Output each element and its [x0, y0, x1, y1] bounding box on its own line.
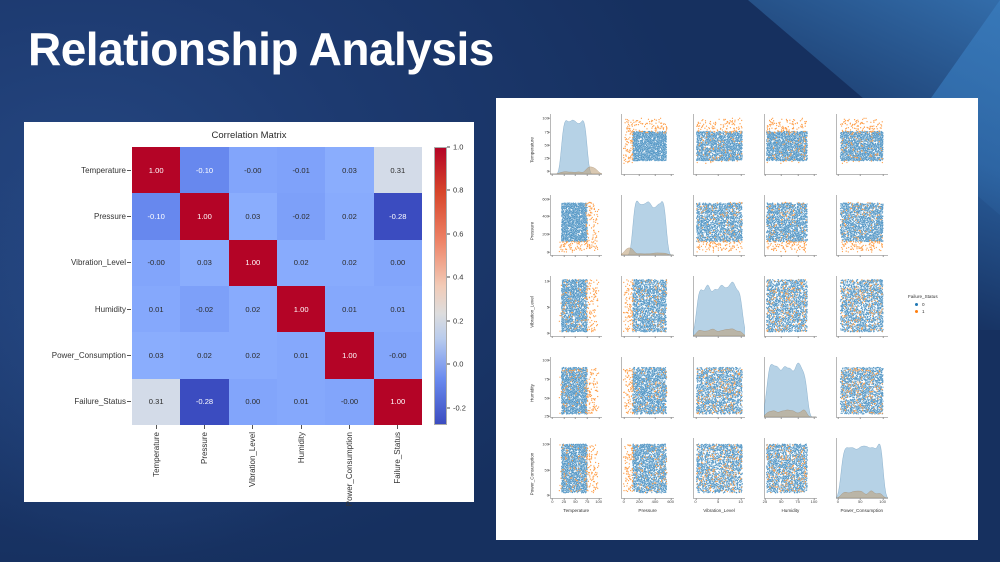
x-tick-mark: [623, 255, 624, 257]
x-tick-label: 75: [795, 499, 799, 504]
x-tick-mark: [623, 174, 624, 176]
pairplot-plot-area: [693, 114, 745, 174]
pairplot-axes: [836, 357, 888, 417]
colorbar-tick: 0.8: [447, 186, 463, 195]
pairplot-y-axis-label: Temperature: [530, 120, 535, 180]
heatmap-col-ticks: [132, 425, 422, 429]
heatmap-col-labels: TemperaturePressureVibration_LevelHumidi…: [132, 432, 422, 530]
x-tick-label: 50: [573, 499, 577, 504]
x-tick-label: 100: [595, 499, 602, 504]
x-tick-mark: [575, 174, 576, 176]
y-tick-label: 50: [545, 142, 549, 147]
heatmap-cell: -0.10: [180, 147, 228, 193]
pairplot-diagonal-cell: 050100Power_Consumption: [824, 436, 890, 512]
correlation-matrix-title: Correlation Matrix: [24, 130, 474, 141]
colorbar-tick-label: 0.6: [453, 229, 463, 238]
scatter-series-class-0: [561, 367, 588, 415]
y-tick-label: 10: [545, 279, 549, 284]
heatmap-cell: 0.03: [325, 147, 373, 193]
x-tick-mark: [765, 255, 766, 257]
y-tick-label: 0: [547, 169, 549, 174]
x-tick-mark: [575, 255, 576, 257]
x-tick-mark: [598, 174, 599, 176]
pairplot-scatter-cell: [609, 274, 675, 350]
x-tick-mark: [882, 417, 883, 419]
scatter-series-class-0: [839, 279, 883, 333]
x-tick-mark: [765, 174, 766, 176]
pairplot-plot-area: [764, 195, 816, 255]
pairplot-axes: [621, 114, 673, 174]
heatmap-row-tick-mark: [127, 401, 131, 402]
x-tick-mark: [655, 174, 656, 176]
pairplot-axes: [836, 195, 888, 255]
heatmap-col-label: Failure_Status: [393, 432, 402, 484]
pairplot-plot-area: [621, 114, 673, 174]
heatmap-cell: 0.01: [325, 286, 373, 332]
heatmap-col-tick-mark: [156, 425, 157, 429]
colorbar-tick: -0.2: [447, 403, 466, 412]
colorbar-tick: 0.2: [447, 316, 463, 325]
pairplot-axes: [764, 114, 816, 174]
x-tick-mark: [655, 417, 656, 419]
heatmap-cell: 0.03: [132, 332, 180, 378]
x-tick-mark: [838, 174, 839, 176]
x-tick-mark: [797, 336, 798, 338]
heatmap-row-tick-mark: [127, 170, 131, 171]
x-tick-mark: [695, 417, 696, 419]
pairplot-plot-area: [621, 276, 673, 336]
pairplot-plot-area: [550, 276, 602, 336]
scatter-series-class-0: [696, 131, 743, 162]
x-tick-mark: [860, 255, 861, 257]
heatmap-cell: 0.00: [374, 240, 422, 286]
scatter-series-class-0: [561, 279, 588, 333]
legend-entry-label: 1: [922, 309, 925, 314]
x-tick-mark: [655, 336, 656, 338]
x-tick-mark: [552, 417, 553, 419]
x-tick-mark: [670, 255, 671, 257]
x-tick-mark: [860, 336, 861, 338]
heatmap-row-label: Temperature: [81, 166, 126, 175]
pairplot-scatter-cell: [752, 193, 818, 269]
x-tick-mark: [718, 336, 719, 338]
pairplot-scatter-cell: [824, 274, 890, 350]
x-tick-mark: [564, 417, 565, 419]
heatmap-cell: 0.00: [229, 379, 277, 425]
pairplot-plot-area: [550, 114, 602, 174]
pairplot-scatter-cell: 0510Vibration_Level: [681, 436, 747, 512]
scatter-series-class-0: [561, 202, 588, 242]
pairplot-diagonal-cell: [752, 355, 818, 431]
heatmap-row-tick-mark: [127, 355, 131, 356]
x-tick-mark: [587, 174, 588, 176]
pairplot-plot-area: [836, 357, 888, 417]
x-tick-mark: [797, 417, 798, 419]
heatmap-cell: 0.02: [325, 193, 373, 239]
colorbar-tick: 1.0: [447, 143, 463, 152]
x-tick-mark: [882, 255, 883, 257]
pairplot-axes: 050100: [836, 438, 888, 498]
pairplot-plot-area: [836, 195, 888, 255]
x-tick-mark: [655, 255, 656, 257]
pairplot-axes: [836, 276, 888, 336]
pairplot-scatter-cell: [752, 274, 818, 350]
x-tick-mark: [882, 174, 883, 176]
pairplot-card: 0255075100Temperature0200400600Pressure0…: [496, 98, 978, 540]
x-tick-mark: [814, 336, 815, 338]
heatmap-cell: -0.28: [374, 193, 422, 239]
heatmap-cell: 0.03: [180, 240, 228, 286]
x-tick-mark: [781, 174, 782, 176]
heatmap-cell: 0.01: [374, 286, 422, 332]
y-tick-label: 0: [547, 493, 549, 498]
pairplot-plot-area: [764, 357, 816, 417]
scatter-series-class-0: [696, 202, 743, 242]
page-title: Relationship Analysis: [28, 22, 494, 76]
heatmap-cell: 0.31: [374, 147, 422, 193]
y-tick-label: 100: [542, 358, 549, 363]
scatter-series-class-0: [633, 131, 668, 162]
heatmap-cell: 0.03: [229, 193, 277, 239]
pairplot-axes: 0510: [550, 276, 602, 336]
x-tick-mark: [587, 417, 588, 419]
kde-density-curve: [836, 444, 888, 498]
pairplot-plot-area: [693, 438, 745, 498]
x-tick-mark: [639, 336, 640, 338]
heatmap-cell: -0.00: [132, 240, 180, 286]
x-tick-mark: [860, 417, 861, 419]
x-tick-mark: [765, 417, 766, 419]
pairplot-x-axis-label: Pressure: [621, 508, 673, 513]
pairplot-grid: 0255075100Temperature0200400600Pressure0…: [538, 112, 890, 512]
pairplot-y-axis-label: Pressure: [530, 201, 535, 261]
x-tick-label: 75: [585, 499, 589, 504]
x-tick-mark: [781, 417, 782, 419]
x-tick-mark: [740, 336, 741, 338]
legend-entries: 01: [908, 302, 974, 314]
x-tick-mark: [882, 336, 883, 338]
x-tick-label: 10: [738, 499, 742, 504]
x-tick-mark: [695, 174, 696, 176]
heatmap-cell: 0.31: [132, 379, 180, 425]
y-tick-label: 5: [547, 305, 549, 310]
pairplot-plot-area: [621, 357, 673, 417]
y-tick-label: 0: [547, 250, 549, 255]
x-tick-label: 0: [837, 499, 839, 504]
pairplot-x-axis-label: Temperature: [550, 508, 602, 513]
scatter-series-class-0: [696, 443, 743, 493]
pairplot-axes: [693, 114, 745, 174]
heatmap-cell: 1.00: [132, 147, 180, 193]
x-tick-mark: [814, 417, 815, 419]
heatmap-cell: 1.00: [325, 332, 373, 378]
x-tick-mark: [639, 417, 640, 419]
heatmap-cell: -0.02: [180, 286, 228, 332]
heatmap-col-tick-mark: [397, 425, 398, 429]
x-tick-label: 5: [717, 499, 719, 504]
pairplot-plot-area: [693, 195, 745, 255]
scatter-series-class-0: [766, 131, 808, 162]
x-tick-label: 200: [636, 499, 643, 504]
kde-density-curve: [764, 363, 816, 417]
x-tick-mark: [552, 255, 553, 257]
legend-entry[interactable]: 1: [915, 309, 974, 314]
x-tick-mark: [797, 174, 798, 176]
heatmap-col-label: Vibration_Level: [248, 432, 257, 487]
y-tick-label: 400: [542, 214, 549, 219]
colorbar-tick: 0.6: [447, 229, 463, 238]
x-tick-mark: [598, 255, 599, 257]
pairplot-scatter-cell: [681, 112, 747, 188]
pairplot-axes: 255075100: [764, 438, 816, 498]
pairplot-x-axis-label: Power_Consumption: [836, 508, 888, 513]
x-tick-mark: [552, 336, 553, 338]
heatmap-col-tick-mark: [204, 425, 205, 429]
x-tick-mark: [623, 417, 624, 419]
heatmap-colorbar: 1.00.80.60.40.20.0-0.2: [434, 147, 447, 425]
colorbar-tick: 0.0: [447, 360, 463, 369]
colorbar-tick-label: 0.0: [453, 360, 463, 369]
heatmap-cell: 0.01: [132, 286, 180, 332]
x-tick-mark: [740, 417, 741, 419]
heatmap-cell: 0.02: [180, 332, 228, 378]
pairplot-axes: [621, 195, 673, 255]
scatter-series-class-0: [766, 279, 808, 333]
pairplot-y-axis-label: Humidity: [530, 363, 535, 423]
pairplot-plot-area: [693, 276, 745, 336]
heatmap-cell: 1.00: [229, 240, 277, 286]
y-tick-label: 200: [542, 232, 549, 237]
x-tick-mark: [598, 336, 599, 338]
heatmap-cell: -0.10: [132, 193, 180, 239]
colorbar-tick-label: 0.8: [453, 186, 463, 195]
pairplot-axes: 0200400600: [550, 195, 602, 255]
pairplot-axes: [621, 276, 673, 336]
x-tick-mark: [598, 417, 599, 419]
colorbar-tick: 0.4: [447, 273, 463, 282]
pairplot-scatter-cell: 255075100Humidity: [752, 436, 818, 512]
heatmap-cell: 0.02: [325, 240, 373, 286]
colorbar-tick-label: 0.4: [453, 273, 463, 282]
y-tick-label: 100: [542, 442, 549, 447]
pairplot-plot-area: [550, 438, 602, 498]
pairplot-axes: [764, 357, 816, 417]
legend-entry[interactable]: 0: [915, 302, 974, 307]
pairplot-plot-area: [693, 357, 745, 417]
heatmap-row-label: Humidity: [95, 305, 126, 314]
pairplot-scatter-cell: [752, 112, 818, 188]
colorbar-tick-label: 0.2: [453, 316, 463, 325]
heatmap-col-label: Humidity: [297, 432, 306, 463]
correlation-matrix-card: Correlation Matrix TemperaturePressureVi…: [24, 122, 474, 502]
heatmap-col-label: Temperature: [152, 432, 161, 477]
pairplot-plot-area: [621, 195, 673, 255]
x-tick-mark: [695, 255, 696, 257]
pairplot-plot-area: [836, 114, 888, 174]
pairplot-y-axis-label: Vibration_Level: [530, 282, 535, 342]
pairplot-axes: 0200400600: [621, 438, 673, 498]
heatmap-cell: -0.28: [180, 379, 228, 425]
scatter-series-class-0: [633, 279, 668, 333]
x-tick-label: 100: [811, 499, 818, 504]
pairplot-axes: [621, 357, 673, 417]
x-tick-mark: [623, 336, 624, 338]
pairplot-scatter-cell: 255075100Humidity: [538, 355, 604, 431]
x-tick-mark: [781, 255, 782, 257]
heatmap-cell: -0.00: [374, 332, 422, 378]
x-tick-label: 25: [763, 499, 767, 504]
heatmap-col-label: Pressure: [200, 432, 209, 464]
x-tick-mark: [564, 174, 565, 176]
heatmap-grid: 1.00-0.10-0.00-0.010.030.31-0.101.000.03…: [132, 147, 422, 425]
x-tick-mark: [587, 255, 588, 257]
y-tick-label: 0: [547, 330, 549, 335]
legend-entry-label: 0: [922, 302, 925, 307]
pairplot-scatter-cell: [609, 112, 675, 188]
x-tick-mark: [765, 336, 766, 338]
heatmap-row-label: Pressure: [94, 212, 126, 221]
pairplot-diagonal-cell: [681, 274, 747, 350]
pairplot-plot-area: [764, 438, 816, 498]
x-tick-mark: [718, 417, 719, 419]
x-tick-mark: [860, 174, 861, 176]
pairplot-scatter-cell: [824, 193, 890, 269]
x-tick-mark: [838, 255, 839, 257]
x-tick-mark: [587, 336, 588, 338]
x-tick-mark: [740, 255, 741, 257]
heatmap-cell: 1.00: [277, 286, 325, 332]
heatmap-row-tick-mark: [127, 309, 131, 310]
heatmap-row-tick-mark: [127, 262, 131, 263]
x-tick-mark: [781, 336, 782, 338]
pairplot-axes: [693, 195, 745, 255]
pairplot-scatter-cell: 0501000255075100Power_ConsumptionTempera…: [538, 436, 604, 512]
pairplot-scatter-cell: 0200400600Pressure: [609, 436, 675, 512]
pairplot-plot-area: [621, 438, 673, 498]
pairplot-diagonal-cell: 0255075100Temperature: [538, 112, 604, 188]
heatmap-row-tick-mark: [127, 216, 131, 217]
x-tick-label: 25: [562, 499, 566, 504]
y-tick-label: 100: [542, 116, 549, 121]
kde-density-curve: [693, 282, 745, 336]
x-tick-mark: [718, 255, 719, 257]
scatter-series-class-0: [696, 367, 743, 415]
pairplot-axes: [693, 357, 745, 417]
x-tick-mark: [564, 336, 565, 338]
pairplot-scatter-cell: [609, 355, 675, 431]
heatmap-cell: -0.00: [325, 379, 373, 425]
pairplot-plot-area: [550, 195, 602, 255]
x-tick-mark: [695, 336, 696, 338]
colorbar-tick-label: 1.0: [453, 143, 463, 152]
scatter-series-class-0: [633, 443, 668, 493]
heatmap-cell: 0.02: [277, 240, 325, 286]
pairplot-scatter-cell: [681, 355, 747, 431]
y-tick-label: 600: [542, 196, 549, 201]
legend-marker-icon: [915, 303, 918, 306]
pairplot-diagonal-cell: [609, 193, 675, 269]
pairplot-axes: [764, 195, 816, 255]
heatmap-cell: 0.01: [277, 332, 325, 378]
colorbar-tick-label: -0.2: [453, 403, 466, 412]
heatmap-col-label: Power_Consumption: [345, 432, 354, 506]
pairplot-axes: [836, 114, 888, 174]
x-tick-label: 400: [652, 499, 659, 504]
legend-marker-icon: [915, 310, 918, 313]
y-tick-label: 25: [545, 156, 549, 161]
x-tick-mark: [718, 174, 719, 176]
pairplot-plot-area: [764, 276, 816, 336]
heatmap-row-label: Failure_Status: [74, 397, 126, 406]
x-tick-mark: [814, 174, 815, 176]
pairplot-scatter-cell: [824, 355, 890, 431]
x-tick-label: 0: [623, 499, 625, 504]
colorbar-gradient: [434, 147, 447, 425]
x-tick-mark: [797, 255, 798, 257]
x-tick-label: 50: [858, 499, 862, 504]
x-tick-mark: [814, 255, 815, 257]
pairplot-axes: [764, 276, 816, 336]
x-tick-mark: [670, 174, 671, 176]
pairplot-axes: 0255075100: [550, 114, 602, 174]
x-tick-mark: [838, 417, 839, 419]
pairplot-axes: 0510: [693, 438, 745, 498]
pairplot-plot-area: [550, 357, 602, 417]
y-tick-label: 50: [545, 395, 549, 400]
x-tick-mark: [740, 174, 741, 176]
scatter-series-class-0: [839, 202, 883, 242]
x-tick-label: 0: [551, 499, 553, 504]
x-tick-label: 50: [779, 499, 783, 504]
heatmap-cell: 1.00: [374, 379, 422, 425]
x-tick-label: 100: [879, 499, 886, 504]
heatmap-cell: 1.00: [180, 193, 228, 239]
y-tick-label: 75: [545, 376, 549, 381]
pairplot-plot-area: [836, 276, 888, 336]
colorbar-ticks: 1.00.80.60.40.20.0-0.2: [447, 147, 487, 425]
y-tick-label: 50: [545, 467, 549, 472]
heatmap-cell: -0.01: [277, 147, 325, 193]
heatmap-row-labels: TemperaturePressureVibration_LevelHumidi…: [26, 147, 126, 425]
heatmap-row-label: Power_Consumption: [52, 351, 126, 360]
x-tick-mark: [670, 336, 671, 338]
heatmap-col-tick-mark: [301, 425, 302, 429]
pairplot-x-axis-label: Humidity: [764, 508, 816, 513]
x-tick-mark: [639, 255, 640, 257]
pairplot-legend: Failure_Status 01: [908, 294, 974, 316]
y-tick-label: 75: [545, 129, 549, 134]
pairplot-axes: 255075100: [550, 357, 602, 417]
heatmap-cell: 0.02: [229, 332, 277, 378]
kde-density-curve: [550, 120, 602, 174]
kde-density-curve: [621, 201, 673, 255]
y-tick-label: 25: [545, 414, 549, 419]
x-tick-label: 600: [667, 499, 674, 504]
pairplot-y-axis-label: Power_Consumption: [530, 444, 535, 504]
x-tick-mark: [564, 255, 565, 257]
pairplot-scatter-cell: 0510Vibration_Level: [538, 274, 604, 350]
heatmap-cell: 0.01: [277, 379, 325, 425]
heatmap-row-ticks: [127, 147, 131, 425]
pairplot-axes: 0501000255075100: [550, 438, 602, 498]
heatmap-col-tick-mark: [349, 425, 350, 429]
pairplot-scatter-cell: [824, 112, 890, 188]
pairplot-scatter-cell: 0200400600Pressure: [538, 193, 604, 269]
pairplot-axes: [693, 276, 745, 336]
pairplot-plot-area: [764, 114, 816, 174]
x-tick-mark: [838, 336, 839, 338]
pairplot-plot-area: [836, 438, 888, 498]
